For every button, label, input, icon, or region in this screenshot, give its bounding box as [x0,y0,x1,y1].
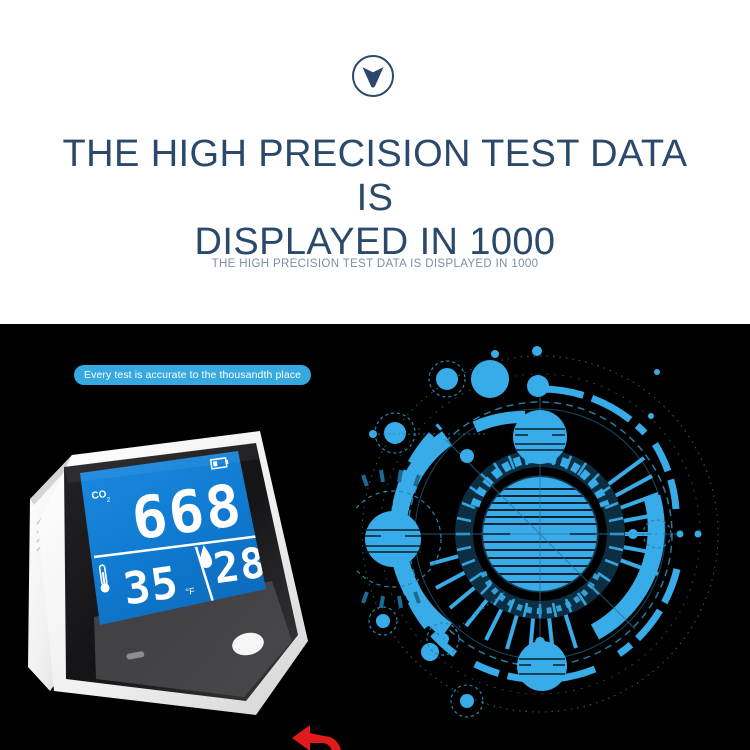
svg-text:35: 35 [120,557,182,615]
tech-circle-graphic [355,334,750,734]
hud-dot [471,360,509,398]
page-title-line-1: THE HIGH PRECISION TEST DATA IS [60,132,690,220]
u-turn-arrow-icon [288,722,344,750]
hud-node-bottom [517,641,567,691]
co2-air-quality-monitor: CO 2 668 ppm [20,429,320,729]
hud-dot [527,375,549,397]
page-subtitle: THE HIGH PRECISION TEST DATA IS DISPLAYE… [0,258,750,270]
hero-badge [352,55,398,101]
hud-dot [436,368,458,390]
product-showcase-section: CO 2 668 ppm [0,324,750,750]
hero-section: THE HIGH PRECISION TEST DATA IS DISPLAYE… [0,0,750,324]
lcd-co2-label: CO [91,489,108,502]
hud-dot [384,422,406,444]
callout-tooltip: Every test is accurate to the thousandth… [74,365,311,385]
page-title: THE HIGH PRECISION TEST DATA IS DISPLAYE… [0,132,750,264]
hud-node-top [513,410,567,464]
chevron-down-icon [361,66,385,88]
lcd-temperature-value: 35 [120,557,182,615]
